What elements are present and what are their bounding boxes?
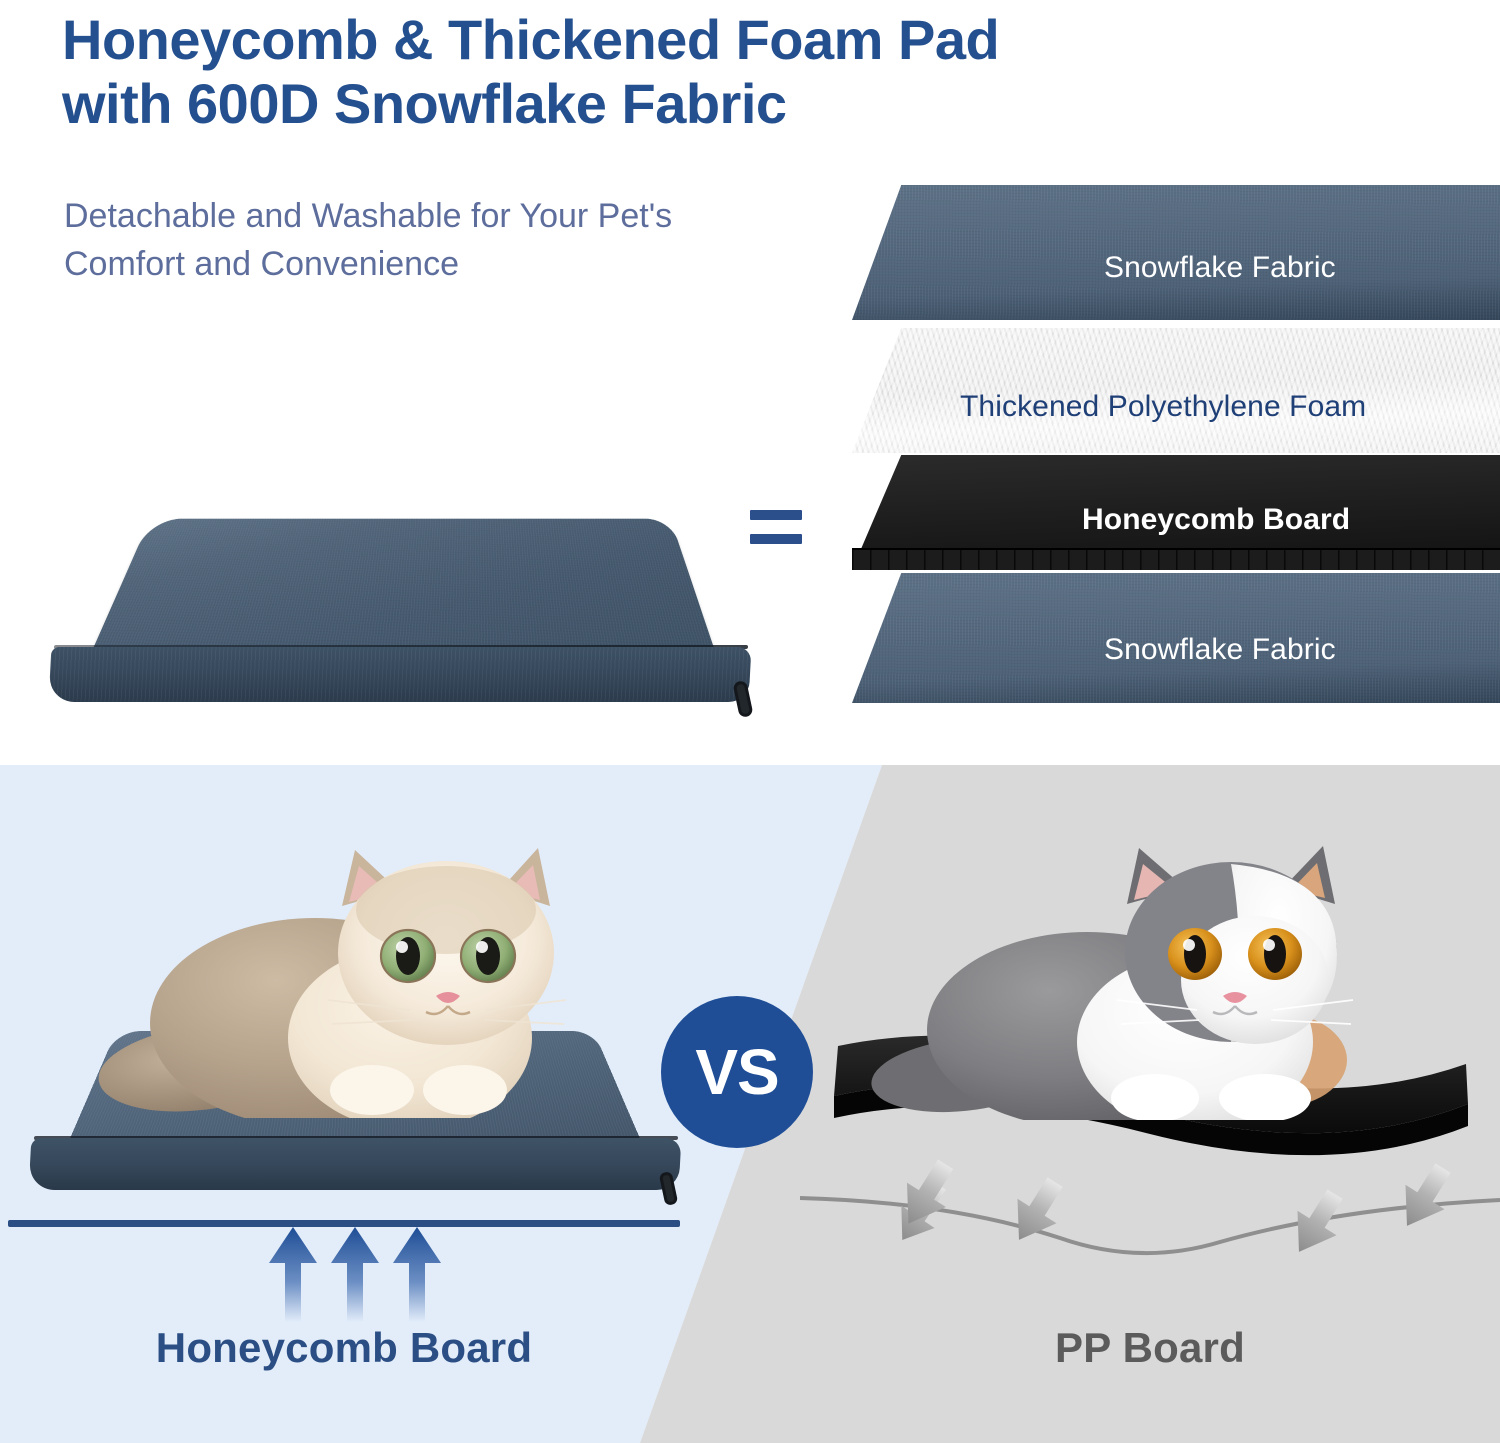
- layer-label: Thickened Polyethylene Foam: [960, 390, 1366, 424]
- pad-side-profile: [29, 1138, 682, 1190]
- honeycomb-corrugation-detail: [852, 548, 1500, 570]
- equals-bar-upper: [750, 510, 802, 520]
- vs-badge: VS: [661, 996, 813, 1148]
- layer-snowflake-fabric-bottom: Snowflake Fabric: [852, 573, 1500, 703]
- layer-honeycomb-board: Honeycomb Board: [852, 455, 1500, 570]
- zipper-pull-icon: [732, 680, 753, 718]
- caption-honeycomb-board: Honeycomb Board: [0, 1324, 688, 1372]
- cat-image-left: [80, 828, 620, 1118]
- page-title-line-1: Honeycomb & Thickened Foam Pad: [62, 8, 1462, 72]
- page-subtitle-line-1: Detachable and Washable for Your Pet's: [64, 192, 924, 240]
- layer-label: Snowflake Fabric: [1104, 251, 1336, 285]
- pad-top-surface: [88, 519, 718, 660]
- exploded-layer-diagram: Snowflake Fabric Thickened Polyethylene …: [852, 185, 1500, 685]
- vs-label: VS: [695, 1040, 778, 1104]
- page-title: Honeycomb & Thickened Foam Pad with 600D…: [62, 8, 1462, 137]
- product-pad-image: [28, 495, 768, 725]
- hero-section: Honeycomb & Thickened Foam Pad with 600D…: [0, 0, 1500, 765]
- equals-bar-lower: [750, 534, 802, 544]
- upward-force-arrows-icon: [255, 1227, 455, 1322]
- equals-icon: [750, 510, 802, 552]
- honeycomb-support-baseline: [8, 1220, 680, 1227]
- layer-label: Honeycomb Board: [1082, 503, 1350, 537]
- cat-image-right: [855, 830, 1415, 1120]
- page-title-line-2: with 600D Snowflake Fabric: [62, 72, 1462, 136]
- layer-polyethylene-foam: Thickened Polyethylene Foam: [852, 328, 1500, 453]
- page-subtitle-line-2: Comfort and Convenience: [64, 240, 924, 288]
- pad-side-profile: [49, 647, 752, 702]
- layer-label: Snowflake Fabric: [1104, 633, 1336, 667]
- layer-snowflake-fabric-top: Snowflake Fabric: [852, 185, 1500, 320]
- page-subtitle: Detachable and Washable for Your Pet's C…: [64, 192, 924, 289]
- caption-pp-board: PP Board: [820, 1324, 1480, 1372]
